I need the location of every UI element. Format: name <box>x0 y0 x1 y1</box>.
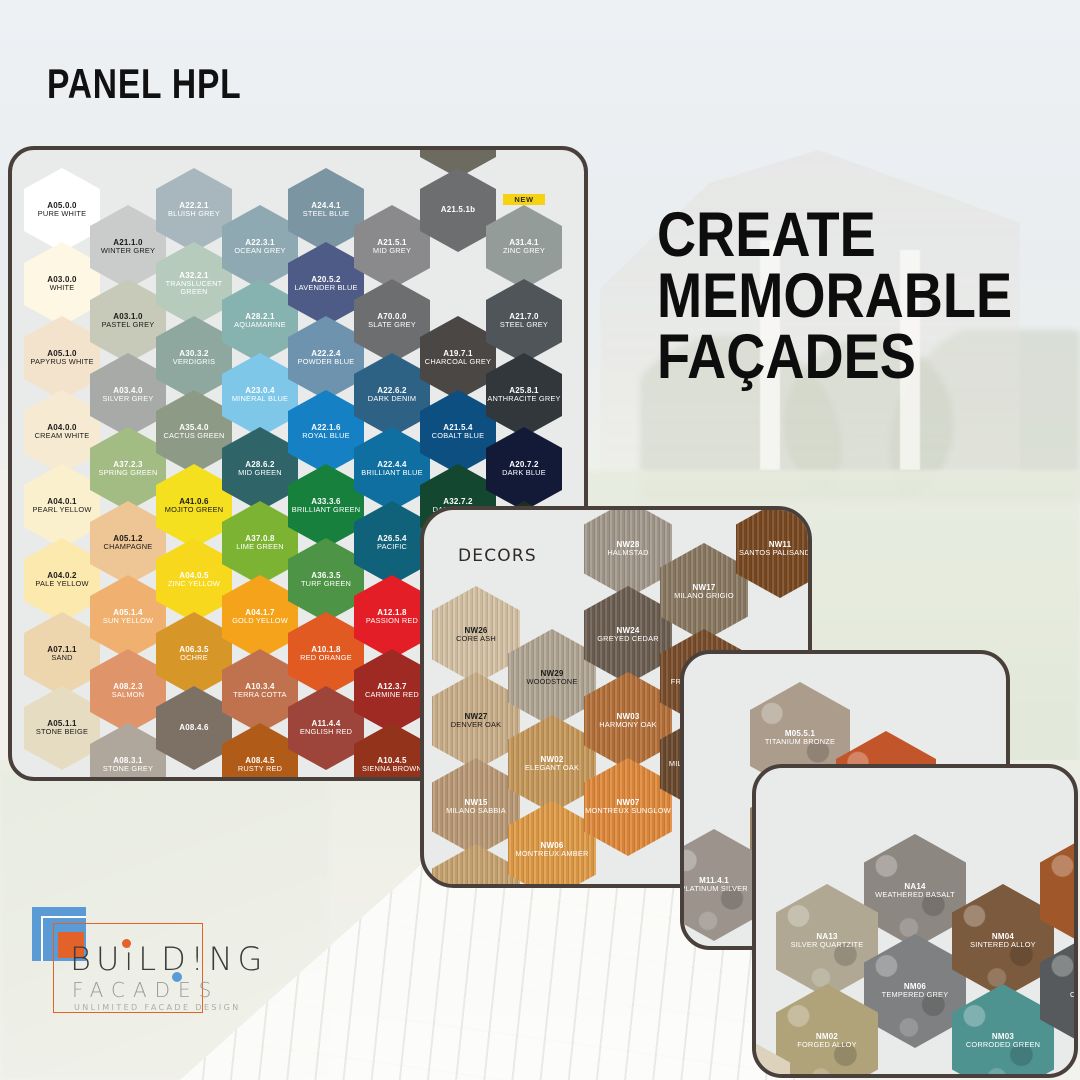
hpl-swatch-name: TRANSLUCENT GREEN <box>156 280 232 296</box>
wood-swatch[interactable]: NW24GREYED CEDAR <box>584 586 672 684</box>
hpl-swatch-name: SAND <box>47 654 76 662</box>
wood-swatch-name: CORE ASH <box>456 635 496 643</box>
hpl-swatch[interactable]: A21.5.4COBALT BLUE <box>420 390 496 474</box>
wood-swatch[interactable]: NW27DENVER OAK <box>432 672 520 770</box>
hpl-swatch[interactable]: A37.2.3SPRING GREEN <box>90 427 166 511</box>
stone-swatch[interactable]: NM06TEMPERED GREY <box>864 934 966 1048</box>
wood-swatch-name: MILANO SABBIA <box>446 807 506 815</box>
hpl-swatch[interactable]: A05.1.0PAPYRUS WHITE <box>24 316 100 400</box>
hpl-swatch[interactable]: A07.1.1SAND <box>24 612 100 696</box>
hpl-swatch[interactable]: A20.7.2DARK BLUE <box>486 427 562 511</box>
hpl-swatch[interactable]: A21.5.1MID GREY <box>354 205 430 289</box>
wood-swatch-name: MONTREUX AMBER <box>515 850 588 858</box>
hpl-swatch-name: PACIFIC <box>377 543 407 551</box>
wood-swatch[interactable]: NW02ELEGANT OAK <box>508 715 596 813</box>
logo-orange-dot-icon <box>122 939 131 948</box>
hpl-swatch-name: CREAM WHITE <box>35 432 90 440</box>
stone-swatch[interactable]: NM02FORGED ALLOY <box>776 984 878 1078</box>
hpl-swatch[interactable]: A22.2.4POWDER BLUE <box>288 316 364 400</box>
hpl-swatch-name: WHITE <box>47 284 76 292</box>
hpl-swatch[interactable]: A12.3.7CARMINE RED <box>354 649 430 733</box>
hpl-swatch[interactable]: A36.3.5TURF GREEN <box>288 538 364 622</box>
hpl-swatch[interactable]: A26.5.4PACIFIC <box>354 501 430 585</box>
hpl-swatch[interactable]: A22.6.2DARK DENIM <box>354 353 430 437</box>
hpl-swatch-name: ENGLISH RED <box>300 728 352 736</box>
headline-line-3: FAÇADES <box>657 327 1012 388</box>
hpl-swatch[interactable]: A33.3.6BRILLIANT GREEN <box>288 464 364 548</box>
page-title: PANEL HPL <box>47 60 242 108</box>
stone-swatch-name: CORRODED GREEN <box>966 1041 1040 1049</box>
hpl-swatch-name: TURF GREEN <box>301 580 351 588</box>
hpl-swatch-name: MID GREEN <box>238 469 282 477</box>
hpl-swatch-name: ROYAL BLUE <box>302 432 350 440</box>
hpl-swatch[interactable]: A10.1.8RED ORANGE <box>288 612 364 696</box>
hpl-swatch-name: LAVENDER BLUE <box>294 284 357 292</box>
hpl-swatch-name: CACTUS GREEN <box>163 432 224 440</box>
hpl-swatch-name: COBALT BLUE <box>432 432 484 440</box>
wood-swatch[interactable]: NW26CORE ASH <box>432 586 520 684</box>
hpl-swatch[interactable]: A04.0.1PEARL YELLOW <box>24 464 100 548</box>
hpl-swatch-name: PASSION RED <box>366 617 418 625</box>
hpl-swatch-name: OCEAN GREY <box>234 247 285 255</box>
hpl-swatch[interactable]: A37.0.8LIME GREEN <box>222 501 298 585</box>
logo-subwordmark: FACADES <box>72 978 219 1002</box>
stone-swatch-name: FORGED ALLOY <box>797 1041 857 1049</box>
hpl-swatch[interactable]: A70.0.0SLATE GREY <box>354 279 430 363</box>
wood-swatch[interactable]: NW17MILANO GRIGIO <box>660 543 748 641</box>
wood-swatch-name: MONTREUX SUNGLOW <box>585 807 671 815</box>
stone-swatch[interactable]: NA13SILVER QUARTZITE <box>776 884 878 998</box>
hpl-swatch-name: STEEL BLUE <box>303 210 350 218</box>
hpl-swatch-name: VERDIGRIS <box>173 358 215 366</box>
hpl-swatch-name: AQUAMARINE <box>234 321 286 329</box>
hpl-swatch-name: POWDER BLUE <box>298 358 355 366</box>
hpl-swatch[interactable]: A30.3.2VERDIGRIS <box>156 316 232 400</box>
stone-swatch-name: CAST IRON <box>1070 991 1078 999</box>
headline: CREATE MEMORABLE FAÇADES <box>657 205 1012 388</box>
hpl-swatch-name: PAPYRUS WHITE <box>30 358 93 366</box>
hpl-swatch[interactable]: A10.3.4TERRA COTTA <box>222 649 298 733</box>
hpl-swatch[interactable]: A22.1.6ROYAL BLUE <box>288 390 364 474</box>
headline-line-2: MEMORABLE <box>657 266 1012 327</box>
hpl-swatch-name: SUN YELLOW <box>103 617 153 625</box>
hpl-swatch[interactable]: A35.4.0CACTUS GREEN <box>156 390 232 474</box>
hpl-swatch-name: SPRING GREEN <box>98 469 157 477</box>
hpl-swatch-name: GOLD YELLOW <box>232 617 288 625</box>
hpl-swatch-name: SIENNA BROWN <box>362 765 422 773</box>
logo-wordmark: BUiLD!NG <box>70 940 267 978</box>
hpl-swatch-name: CHARCOAL GREY <box>425 358 491 366</box>
hpl-swatch-name: STONE GREY <box>103 765 153 773</box>
stone-swatch-name: TEMPERED GREY <box>882 991 949 999</box>
hpl-swatch-code: A08.4.6 <box>179 724 208 733</box>
swatch-card-stone[interactable]: NA14WEATHERED BASALTNA13SILVER QUARTZITE… <box>752 764 1078 1078</box>
mineral-texture <box>776 984 878 1078</box>
hpl-swatch[interactable]: A08.3.1STONE GREY <box>90 723 166 781</box>
new-badge: NEW <box>503 194 546 205</box>
hpl-swatch[interactable]: A08.4.5RUSTY RED <box>222 723 298 781</box>
wood-swatch[interactable]: NW03HARMONY OAK <box>584 672 672 770</box>
stone-swatch[interactable]: NA14WEATHERED BASALT <box>864 834 966 948</box>
hpl-swatch-name: BRILLIANT GREEN <box>292 506 361 514</box>
hpl-swatch[interactable]: A04.1.7GOLD YELLOW <box>222 575 298 659</box>
wood-swatch-name: GREYED CEDAR <box>597 635 659 643</box>
hpl-swatch[interactable]: A23.0.4MINERAL BLUE <box>222 353 298 437</box>
hpl-swatch[interactable]: A03.1.0PASTEL GREY <box>90 279 166 363</box>
hpl-swatch-code: A21.5.1b <box>441 206 476 215</box>
hpl-swatch-name: BRILLIANT BLUE <box>361 469 422 477</box>
hpl-swatch-name: STONE BEIGE <box>36 728 88 736</box>
hpl-swatch[interactable]: A31.4.1ZINC GREY <box>486 205 562 289</box>
wood-swatch-name: WOODSTONE <box>527 678 578 686</box>
hpl-swatch[interactable]: A11.4.4ENGLISH RED <box>288 686 364 770</box>
hpl-swatch-name: WINTER GREY <box>101 247 155 255</box>
wood-swatch[interactable]: NW28HALMSTAD <box>584 506 672 598</box>
wood-swatch-name: MILANO GRIGIO <box>674 592 734 600</box>
hpl-swatch[interactable]: A04.0.5ZINC YELLOW <box>156 538 232 622</box>
wood-swatch[interactable]: NW29WOODSTONE <box>508 629 596 727</box>
hpl-swatch-name: SALMON <box>112 691 144 699</box>
hpl-swatch-name: PURE WHITE <box>38 210 86 218</box>
hpl-swatch[interactable]: A05.1.1STONE BEIGE <box>24 686 100 770</box>
hpl-swatch-name: MOJITO GREEN <box>165 506 224 514</box>
wood-swatch[interactable]: NW06MONTREUX AMBER <box>508 801 596 888</box>
hpl-swatch-name: DARK BLUE <box>502 469 546 477</box>
hpl-swatch-name: SLATE GREY <box>368 321 416 329</box>
stone-swatch-name: SILVER QUARTZITE <box>791 941 864 949</box>
hpl-swatch[interactable]: A12.1.8PASSION RED <box>354 575 430 659</box>
headline-line-1: CREATE <box>657 205 1012 266</box>
wood-grain-texture <box>432 844 520 888</box>
hpl-swatch-name: TERRA COTTA <box>233 691 286 699</box>
hpl-swatch-name: LIME GREEN <box>236 543 284 551</box>
hpl-swatch[interactable]: A32.2.1TRANSLUCENT GREEN <box>156 242 232 326</box>
hpl-swatch[interactable]: A05.0.0PURE WHITE <box>24 168 100 252</box>
hpl-swatch-name: PASTEL GREY <box>102 321 155 329</box>
metal-swatch-name: TITANIUM BRONZE <box>765 738 835 746</box>
hpl-swatch[interactable]: A28.2.1AQUAMARINE <box>222 279 298 363</box>
logo[interactable]: BUiLD!NG FACADES UNLIMITED FACADE DESIGN <box>32 893 332 1063</box>
hpl-swatch[interactable]: A22.3.1OCEAN GREY <box>222 205 298 289</box>
hpl-swatch[interactable]: A21.1.0WINTER GREY <box>90 205 166 289</box>
hpl-swatch-name: ZINC YELLOW <box>168 580 220 588</box>
stone-swatch[interactable]: NM04SINTERED ALLOY <box>952 884 1054 998</box>
hpl-swatch[interactable]: A24.4.1STEEL BLUE <box>288 168 364 252</box>
stone-swatch[interactable]: NM03CORRODED GREEN <box>952 984 1054 1078</box>
hpl-swatch-name: SILVER GREY <box>103 395 154 403</box>
hpl-swatch-name: MID GREY <box>373 247 411 255</box>
hpl-swatch[interactable]: A41.0.6MOJITO GREEN <box>156 464 232 548</box>
hpl-swatch-name: PALE YELLOW <box>35 580 88 588</box>
wood-swatch-name: SANTOS PALISANDER <box>739 549 812 557</box>
mineral-texture <box>952 984 1054 1078</box>
wood-swatch-code: NW12 <box>439 885 513 888</box>
wood-swatch[interactable]: NW12NATURAL LAGENDA <box>432 844 520 888</box>
hpl-swatch-name: RUSTY RED <box>238 765 282 773</box>
hpl-swatch-name: BLUISH GREY <box>168 210 220 218</box>
hpl-swatch-name: OCHRE <box>179 654 208 662</box>
hpl-swatch-name: ZINC GREY <box>503 247 545 255</box>
hpl-swatch-name: RED ORANGE <box>300 654 352 662</box>
hpl-swatch[interactable]: A08.4.6 <box>156 686 232 770</box>
hpl-swatch[interactable]: A04.0.2PALE YELLOW <box>24 538 100 622</box>
hpl-swatch[interactable]: A05.1.4SUN YELLOW <box>90 575 166 659</box>
hpl-swatch[interactable]: A22.4.4BRILLIANT BLUE <box>354 427 430 511</box>
wood-swatch-name: HARMONY OAK <box>599 721 657 729</box>
hpl-swatch[interactable]: A21.5.1b <box>420 168 496 252</box>
hpl-swatch[interactable]: A21.7.0STEEL GREY <box>486 279 562 363</box>
wood-swatch[interactable]: NW15MILANO SABBIA <box>432 758 520 856</box>
wood-swatch-name: HALMSTAD <box>607 549 648 557</box>
stone-swatch-name: WEATHERED BASALT <box>875 891 955 899</box>
hpl-swatch-name: MINERAL BLUE <box>232 395 288 403</box>
hpl-swatch[interactable]: A05.1.2CHAMPAGNE <box>90 501 166 585</box>
hpl-swatch-name: STEEL GREY <box>500 321 548 329</box>
hpl-swatch[interactable]: A06.3.5OCHRE <box>156 612 232 696</box>
hpl-swatch[interactable]: A20.5.2LAVENDER BLUE <box>288 242 364 326</box>
wood-swatch-name: DENVER OAK <box>451 721 501 729</box>
hpl-swatch[interactable]: A28.6.2MID GREEN <box>222 427 298 511</box>
hpl-swatch[interactable]: A03.4.0SILVER GREY <box>90 353 166 437</box>
stone-swatch-name: SINTERED ALLOY <box>970 941 1036 949</box>
hpl-swatch-name: DARK DENIM <box>368 395 416 403</box>
hpl-swatch-name: CARMINE RED <box>365 691 419 699</box>
hpl-swatch[interactable]: A25.8.1ANTHRACITE GREY <box>486 353 562 437</box>
hpl-swatch[interactable]: A10.4.5SIENNA BROWN <box>354 723 430 781</box>
card-label-decors: DECORS <box>458 546 537 566</box>
hpl-swatch[interactable]: A19.7.1CHARCOAL GREY <box>420 316 496 400</box>
hpl-swatch-name: PEARL YELLOW <box>32 506 91 514</box>
logo-tagline: UNLIMITED FACADE DESIGN <box>74 1003 241 1012</box>
wood-swatch[interactable]: NW07MONTREUX SUNGLOW <box>584 758 672 856</box>
hpl-swatch[interactable]: A08.2.3SALMON <box>90 649 166 733</box>
hpl-swatch-name: CHAMPAGNE <box>104 543 153 551</box>
wood-swatch-name: ELEGANT OAK <box>525 764 579 772</box>
metal-swatch-name: PLATINUM SILVER <box>680 885 748 893</box>
hpl-swatch[interactable]: A22.2.1BLUISH GREY <box>156 168 232 252</box>
hpl-swatch-name: ANTHRACITE GREY <box>487 395 560 403</box>
hpl-swatch[interactable]: A04.0.0CREAM WHITE <box>24 390 100 474</box>
hpl-swatch[interactable]: A03.0.0WHITE <box>24 242 100 326</box>
